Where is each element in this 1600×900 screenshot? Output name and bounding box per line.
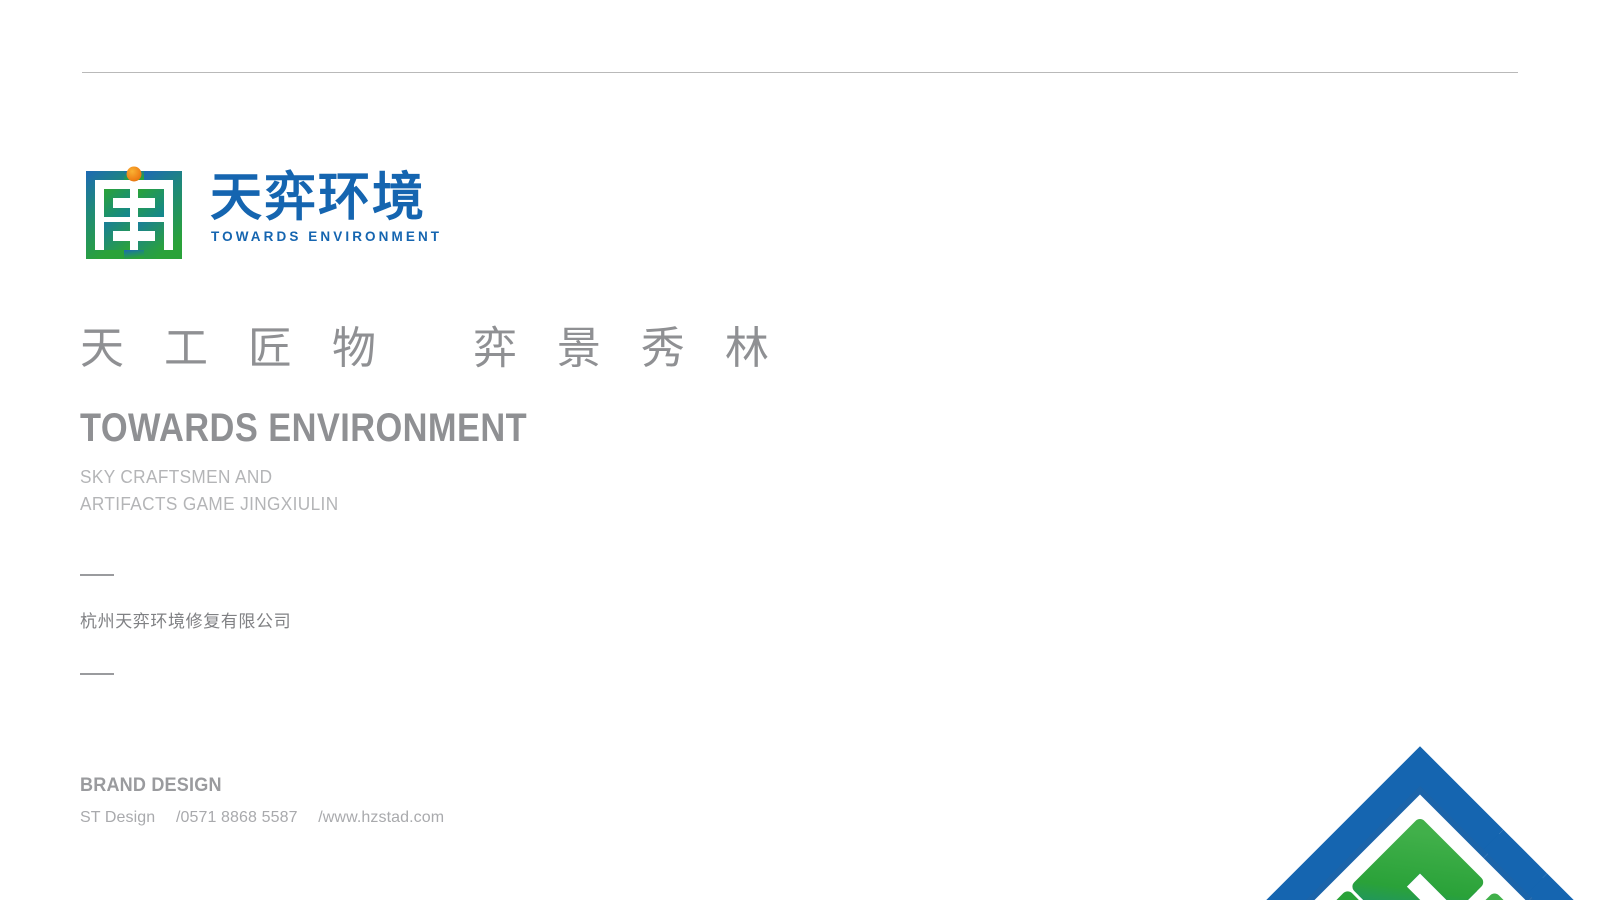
top-divider-rule [82, 72, 1518, 73]
logo-english-text: TOWARDS ENVIRONMENT [211, 229, 442, 244]
logo-chinese-text: 天弈环境 [210, 169, 426, 225]
logo-chinese-name: 天弈环境 [210, 169, 478, 225]
brand-cover-page: 天弈环境 TOWARDS ENVIRONMENT 天 工 匠 物 弈 景 秀 林… [0, 0, 1600, 900]
footer-title: BRAND DESIGN [80, 775, 222, 797]
logo-wordmark: 天弈环境 TOWARDS ENVIRONMENT [210, 169, 478, 247]
rotated-logo-corner-graphic [1120, 420, 1600, 900]
towards-environment-logo-mark [80, 165, 188, 265]
divider-dash-below-company [80, 673, 114, 675]
headline-subtitle: SKY CRAFTSMEN AND ARTIFACTS GAME JINGXIU… [80, 463, 338, 517]
logo-english-name: TOWARDS ENVIRONMENT [210, 227, 478, 247]
headline-chinese: 天 工 匠 物 弈 景 秀 林 [80, 325, 782, 373]
divider-dash-above-company [80, 574, 114, 576]
company-name: 杭州天弈环境修复有限公司 [80, 607, 291, 632]
logo-lockup: 天弈环境 TOWARDS ENVIRONMENT [80, 165, 478, 265]
headline-english: TOWARDS ENVIRONMENT [80, 405, 527, 451]
footer-contact-line: ST Design /0571 8868 5587 /www.hzstad.co… [80, 803, 444, 827]
